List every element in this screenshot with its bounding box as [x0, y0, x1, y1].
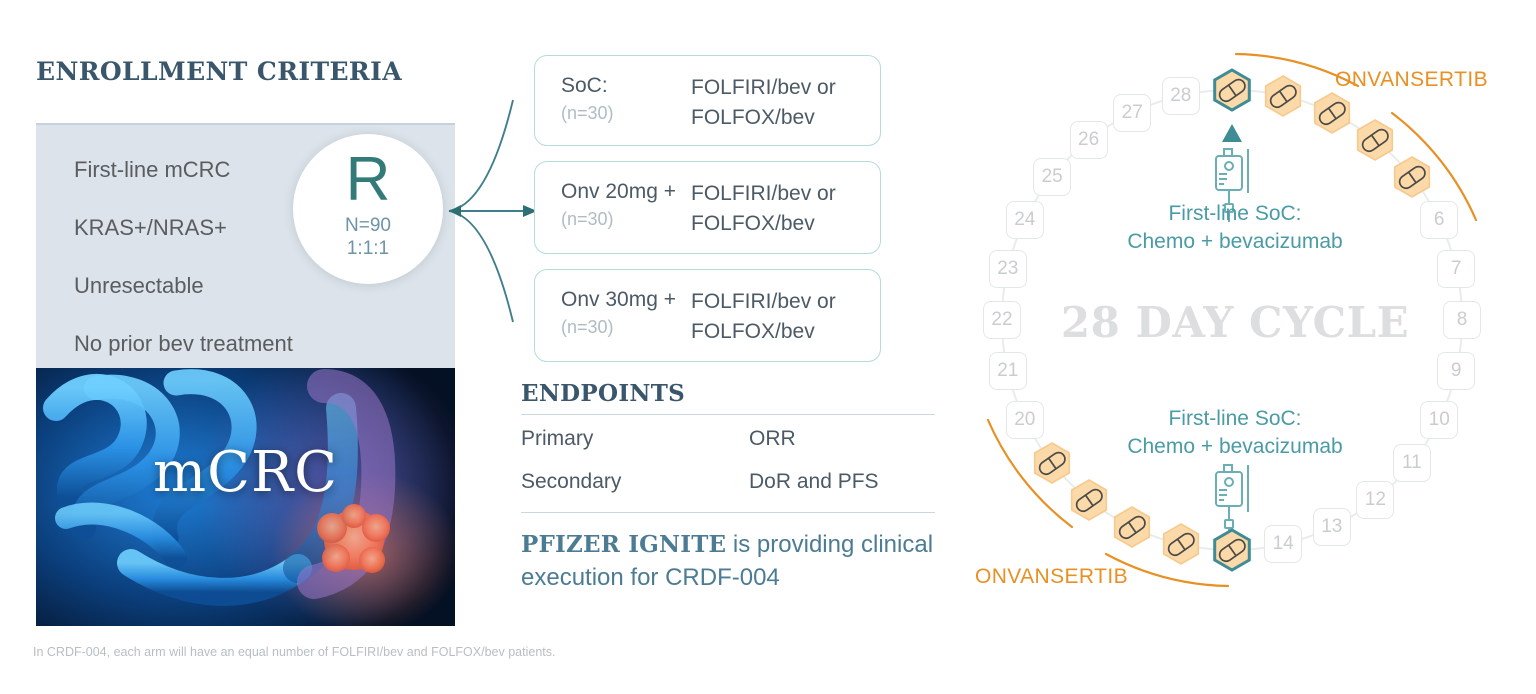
arm-regimen-line1: FOLFIRI/bev or	[691, 182, 836, 205]
soc-label-line1: First-line SoC:	[1168, 202, 1301, 225]
soc-label-bottom: First-line SoC: Chemo + bevacizumab	[1055, 405, 1415, 461]
arm-label: SoC:	[561, 74, 608, 98]
footnote: In CRDF-004, each arm will have an equal…	[33, 645, 555, 659]
arm-regimen-line2: FOLFOX/bev	[691, 320, 815, 343]
cycle-day-box: 11	[1393, 444, 1431, 482]
cycle-day-box: 8	[1443, 301, 1481, 339]
treatment-arm-onv20: Onv 20mg + (n=30) FOLFIRI/bev or FOLFOX/…	[534, 161, 881, 254]
cycle-day-box: 25	[1033, 158, 1071, 196]
arm-sample-size: (n=30)	[561, 317, 614, 338]
arm-sample-size: (n=30)	[561, 103, 614, 124]
cycle-day-node-onvansertib	[1387, 152, 1437, 202]
arm-regimen-line1: FOLFIRI/bev or	[691, 76, 836, 99]
soc-label-top: First-line SoC: Chemo + bevacizumab	[1055, 200, 1415, 256]
endpoint-value: DoR and PFS	[749, 470, 879, 494]
mcrc-image-label: mCRC	[36, 440, 455, 505]
cycle-day-node-onvansertib	[1107, 502, 1157, 552]
cycle-day-box: 26	[1070, 121, 1108, 159]
divider	[521, 512, 935, 513]
criteria-item: No prior bev treatment	[74, 331, 293, 357]
cycle-day-node-onvansertib	[1027, 438, 1077, 488]
cycle-day-box: 23	[989, 250, 1027, 288]
onvansertib-label-bottom: ONVANSERTIB	[975, 565, 1128, 589]
cycle-day-box: 10	[1420, 401, 1458, 439]
cycle-day-node-infusion	[1207, 525, 1257, 575]
enrollment-criteria-heading: ENROLLMENT CRITERIA	[36, 57, 402, 86]
onvansertib-label-top: ONVANSERTIB	[1335, 68, 1488, 92]
arm-regimen-line1: FOLFIRI/bev or	[691, 290, 836, 313]
cycle-day-box: 12	[1356, 481, 1394, 519]
randomization-badge: R N=90 1:1:1	[293, 134, 443, 284]
endpoints-heading: ENDPOINTS	[521, 380, 685, 407]
cycle-day-node-onvansertib	[1307, 88, 1357, 138]
cycle-day-box: 27	[1113, 94, 1151, 132]
criteria-item: KRAS+/NRAS+	[74, 215, 227, 241]
treatment-arm-soc: SoC: (n=30) FOLFIRI/bev or FOLFOX/bev	[534, 55, 881, 146]
cycle-day-box: 9	[1437, 352, 1475, 390]
randomization-ratio: 1:1:1	[293, 237, 443, 260]
arm-sample-size: (n=30)	[561, 209, 614, 230]
endpoint-term: Primary	[521, 427, 593, 451]
sponsor-name: PFIZER IGNITE	[521, 531, 726, 558]
arm-regimen: FOLFIRI/bev or FOLFOX/bev	[691, 179, 836, 239]
cycle-day-box: 7	[1437, 250, 1475, 288]
cycle-day-box: 13	[1313, 508, 1351, 546]
treatment-cycle-diagram: 28 DAY CYCLE First-line SoC: Chemo + bev…	[940, 20, 1530, 640]
endpoint-value: ORR	[749, 427, 796, 451]
cycle-day-box: 22	[983, 301, 1021, 339]
soc-label-line2: Chemo + bevacizumab	[1127, 435, 1342, 458]
arm-regimen: FOLFIRI/bev or FOLFOX/bev	[691, 73, 836, 133]
soc-label-line2: Chemo + bevacizumab	[1127, 230, 1342, 253]
cycle-day-box: 24	[1006, 201, 1044, 239]
criteria-item: Unresectable	[74, 273, 204, 299]
cycle-day-node-infusion	[1207, 65, 1257, 115]
arm-regimen: FOLFIRI/bev or FOLFOX/bev	[691, 287, 836, 347]
cycle-day-node-onvansertib	[1156, 519, 1206, 569]
cycle-day-box: 14	[1264, 525, 1302, 563]
mcrc-illustration: mCRC	[36, 368, 455, 626]
divider	[521, 414, 935, 415]
soc-label-line1: First-line SoC:	[1168, 407, 1301, 430]
cycle-day-box: 21	[989, 352, 1027, 390]
cycle-title: 28 DAY CYCLE	[940, 298, 1530, 347]
randomization-letter: R	[293, 150, 443, 210]
infographic-root: ENROLLMENT CRITERIA First-line mCRC KRAS…	[0, 0, 1536, 694]
cycle-day-box: 20	[1006, 401, 1044, 439]
cycle-day-box: 28	[1162, 77, 1200, 115]
arm-regimen-line2: FOLFOX/bev	[691, 106, 815, 129]
criteria-item: First-line mCRC	[74, 157, 230, 183]
cycle-day-box: 6	[1420, 201, 1458, 239]
endpoint-term: Secondary	[521, 470, 621, 494]
arm-label: Onv 20mg +	[561, 180, 676, 204]
cycle-day-node-onvansertib	[1258, 71, 1308, 121]
arm-regimen-line2: FOLFOX/bev	[691, 212, 815, 235]
randomization-sample-size: N=90	[293, 214, 443, 237]
sponsor-note: PFIZER IGNITE is providing clinical exec…	[521, 528, 951, 594]
treatment-arm-onv30: Onv 30mg + (n=30) FOLFIRI/bev or FOLFOX/…	[534, 269, 881, 362]
arm-label: Onv 30mg +	[561, 288, 676, 312]
